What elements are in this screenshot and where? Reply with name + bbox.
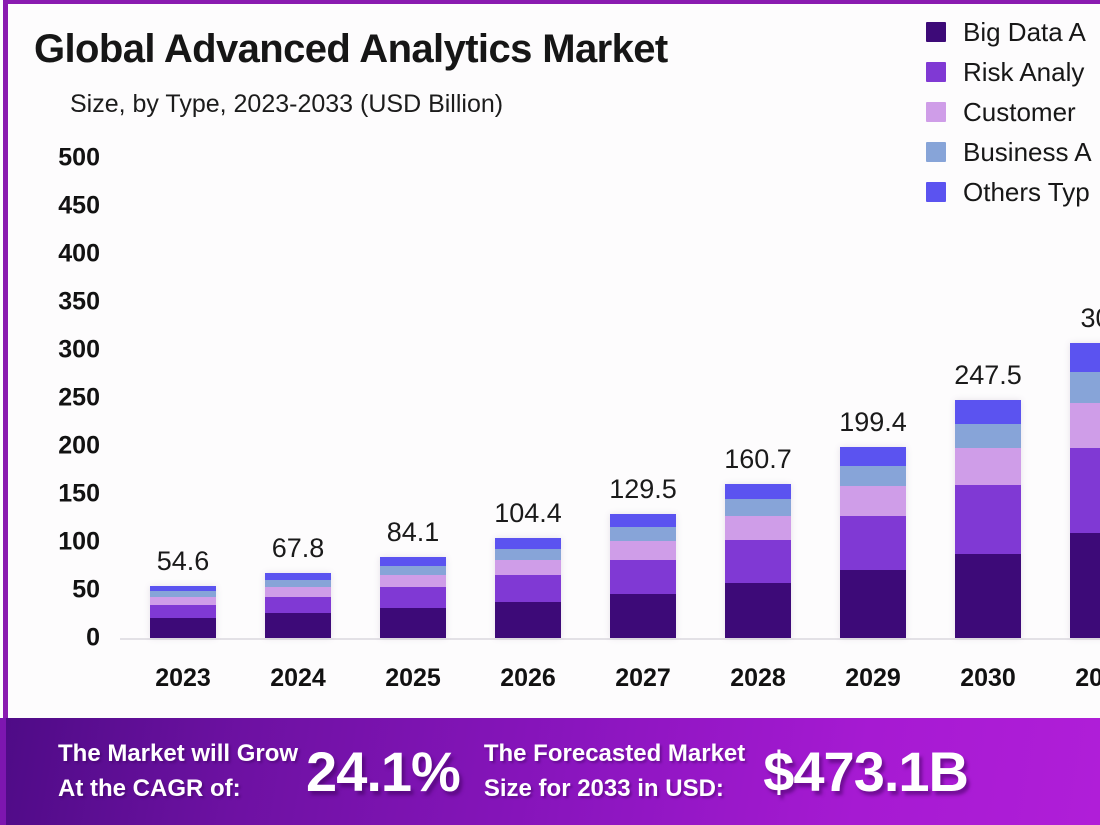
bar-segment[interactable] xyxy=(610,560,676,594)
cagr-block: The Market will Grow At the CAGR of: 24.… xyxy=(58,737,460,805)
forecast-value: $473.1B xyxy=(763,739,968,804)
bar-total-label: 54.6 xyxy=(157,546,210,577)
bar-segment[interactable] xyxy=(380,587,446,608)
stacked-bar[interactable] xyxy=(840,447,906,638)
x-axis-line xyxy=(120,638,1100,640)
bar-segment[interactable] xyxy=(380,608,446,638)
x-axis-tick-label: 2027 xyxy=(615,664,671,693)
stacked-bar[interactable] xyxy=(610,514,676,638)
footer-left-accent xyxy=(0,718,6,825)
x-axis-tick-label: 2025 xyxy=(385,664,441,693)
forecast-caption-line1: The Forecasted Market xyxy=(484,737,745,771)
y-axis-tick-label: 450 xyxy=(0,192,100,221)
stacked-bar[interactable] xyxy=(150,586,216,638)
bar-segment[interactable] xyxy=(725,583,791,638)
bar-segment[interactable] xyxy=(1070,372,1100,403)
plot-area: 500450400350300250200150100500 202320242… xyxy=(8,4,1100,722)
bar-total-label: 84.1 xyxy=(387,517,440,548)
bar-segment[interactable] xyxy=(1070,403,1100,448)
y-axis-tick-label: 500 xyxy=(0,144,100,173)
cagr-caption-line1: The Market will Grow xyxy=(58,737,298,771)
bar-group xyxy=(120,4,1100,638)
y-axis-tick-label: 300 xyxy=(0,336,100,365)
bar-segment[interactable] xyxy=(840,516,906,570)
stacked-bar[interactable] xyxy=(955,400,1021,638)
bar-segment[interactable] xyxy=(840,466,906,486)
y-axis-tick-label: 100 xyxy=(0,528,100,557)
y-axis-tick-label: 50 xyxy=(0,576,100,605)
bar-segment[interactable] xyxy=(265,587,331,597)
bar-segment[interactable] xyxy=(610,527,676,541)
bar-segment[interactable] xyxy=(150,605,216,618)
x-axis-tick-label: 2030 xyxy=(960,664,1016,693)
bar-segment[interactable] xyxy=(725,540,791,583)
bar-segment[interactable] xyxy=(380,566,446,575)
x-axis-tick-label: 2026 xyxy=(500,664,556,693)
chart-screenshot: Global Advanced Analytics Market Size, b… xyxy=(0,0,1100,825)
bar-segment[interactable] xyxy=(1070,343,1100,372)
bar-segment[interactable] xyxy=(495,549,561,560)
bar-segment[interactable] xyxy=(840,486,906,516)
bar-total-label: 129.5 xyxy=(609,474,677,505)
stacked-bar[interactable] xyxy=(380,557,446,638)
cagr-value: 24.1% xyxy=(306,739,460,804)
y-axis-tick-label: 0 xyxy=(0,624,100,653)
bar-segment[interactable] xyxy=(380,575,446,587)
cagr-caption-line2: At the CAGR of: xyxy=(58,772,298,806)
bar-segment[interactable] xyxy=(265,613,331,638)
bar-segment[interactable] xyxy=(265,597,331,613)
bar-segment[interactable] xyxy=(955,424,1021,449)
bar-segment[interactable] xyxy=(955,400,1021,423)
cagr-caption: The Market will Grow At the CAGR of: xyxy=(58,737,298,805)
y-axis-tick-label: 400 xyxy=(0,240,100,269)
bar-total-label: 199.4 xyxy=(839,407,907,438)
bar-segment[interactable] xyxy=(955,485,1021,554)
bar-segment[interactable] xyxy=(610,514,676,527)
bar-segment[interactable] xyxy=(1070,448,1100,533)
bar-segment[interactable] xyxy=(495,538,561,549)
bar-segment[interactable] xyxy=(725,484,791,500)
bar-segment[interactable] xyxy=(150,618,216,638)
bar-segment[interactable] xyxy=(495,602,561,638)
bar-segment[interactable] xyxy=(1070,533,1100,638)
bar-segment[interactable] xyxy=(265,573,331,580)
x-axis-tick-label: 2023 xyxy=(155,664,211,693)
bar-segment[interactable] xyxy=(610,594,676,638)
x-axis-tick-label: 2028 xyxy=(730,664,786,693)
bar-segment[interactable] xyxy=(380,557,446,566)
bar-segment[interactable] xyxy=(495,575,561,601)
forecast-block: The Forecasted Market Size for 2033 in U… xyxy=(484,737,968,805)
bar-segment[interactable] xyxy=(610,541,676,560)
y-axis-tick-label: 250 xyxy=(0,384,100,413)
bar-total-label: 104.4 xyxy=(494,498,562,529)
x-axis-tick-label: 2031 xyxy=(1075,664,1100,693)
bar-total-label: 67.8 xyxy=(272,533,325,564)
footer-banner: The Market will Grow At the CAGR of: 24.… xyxy=(0,718,1100,825)
stacked-bar[interactable] xyxy=(725,484,791,638)
y-axis-tick-label: 350 xyxy=(0,288,100,317)
bar-segment[interactable] xyxy=(840,570,906,638)
x-axis-tick-label: 2024 xyxy=(270,664,326,693)
bar-segment[interactable] xyxy=(150,597,216,604)
y-axis-tick-label: 200 xyxy=(0,432,100,461)
stacked-bar[interactable] xyxy=(1070,343,1100,638)
bar-segment[interactable] xyxy=(725,516,791,540)
y-axis-tick-label: 150 xyxy=(0,480,100,509)
stacked-bar[interactable] xyxy=(495,538,561,638)
forecast-caption-line2: Size for 2033 in USD: xyxy=(484,772,745,806)
bar-total-label: 247.5 xyxy=(954,360,1022,391)
bar-segment[interactable] xyxy=(495,560,561,576)
bar-segment[interactable] xyxy=(840,447,906,466)
bar-segment[interactable] xyxy=(265,580,331,587)
bar-segment[interactable] xyxy=(725,499,791,516)
x-axis-tick-label: 2029 xyxy=(845,664,901,693)
bar-segment[interactable] xyxy=(955,554,1021,638)
bar-total-label: 160.7 xyxy=(724,444,792,475)
bar-segment[interactable] xyxy=(955,448,1021,484)
chart-card: Global Advanced Analytics Market Size, b… xyxy=(3,0,1100,718)
forecast-caption: The Forecasted Market Size for 2033 in U… xyxy=(484,737,745,805)
stacked-bar[interactable] xyxy=(265,573,331,638)
bar-total-label: 307 xyxy=(1080,303,1100,334)
